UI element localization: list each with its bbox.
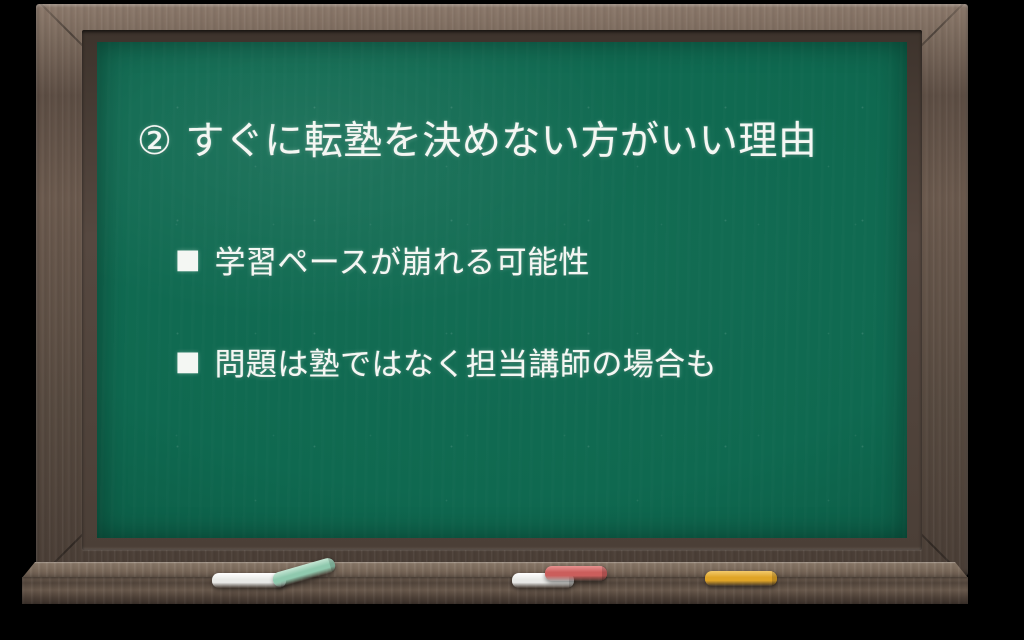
- chalkboard-content: ② すぐに転塾を決めない方がいい理由 ■ 学習ペースが崩れる可能性 ■ 問題は塾…: [97, 42, 907, 538]
- bullet-square-icon: ■: [175, 246, 201, 273]
- chalkboard-wooden-frame: ② すぐに転塾を決めない方がいい理由 ■ 学習ペースが崩れる可能性 ■ 問題は塾…: [36, 4, 968, 576]
- chalkboard-slate-surface: ② すぐに転塾を決めない方がいい理由 ■ 学習ペースが崩れる可能性 ■ 問題は塾…: [97, 42, 907, 538]
- bullet-item-1: ■ 問題は塾ではなく担当講師の場合も: [175, 339, 717, 384]
- bullet-label-1: 問題は塾ではなく担当講師の場合も: [215, 339, 717, 384]
- bullet-label-0: 学習ペースが崩れる可能性: [215, 237, 590, 282]
- chalk-tray: [22, 562, 968, 604]
- board-title: ② すぐに転塾を決めない方がいい理由: [137, 110, 817, 166]
- chalkboard-scene: ② すぐに転塾を決めない方がいい理由 ■ 学習ペースが崩れる可能性 ■ 問題は塾…: [0, 0, 1024, 640]
- bullet-square-icon: ■: [175, 348, 201, 375]
- bullet-item-0: ■ 学習ペースが崩れる可能性: [175, 237, 590, 282]
- chalk-tray-surface: [22, 562, 968, 578]
- yellow-chalk: [705, 571, 777, 586]
- red-chalk: [545, 566, 607, 581]
- chalk-tray-front-edge: [22, 577, 968, 604]
